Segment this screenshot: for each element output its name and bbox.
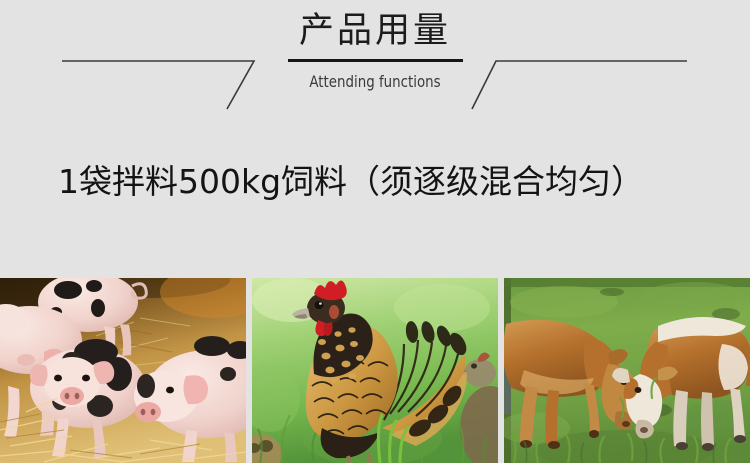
header-banner: 产品用量 Attending functions bbox=[0, 0, 750, 125]
page-title: 产品用量 bbox=[0, 9, 750, 53]
piglets-photo bbox=[0, 278, 246, 463]
dosage-statement: 1袋拌料500kg饲料（须逐级混合均匀） bbox=[58, 158, 644, 206]
title-underline-bar bbox=[288, 59, 463, 62]
photo-strip bbox=[0, 278, 750, 463]
page-subtitle: Attending functions bbox=[26, 70, 724, 94]
calves-photo bbox=[504, 278, 750, 463]
rooster-photo bbox=[252, 278, 498, 463]
